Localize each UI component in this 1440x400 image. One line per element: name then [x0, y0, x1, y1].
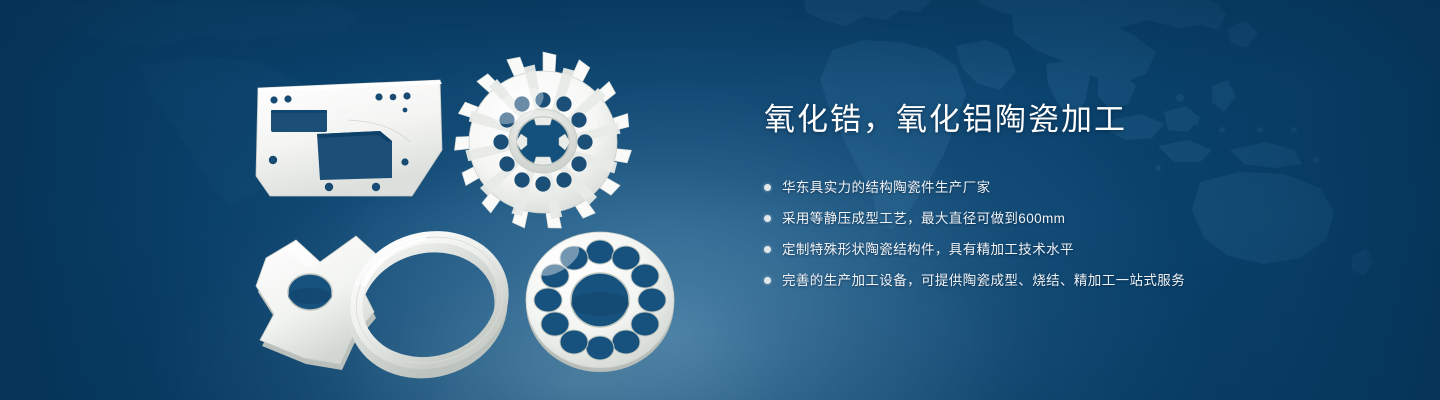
product-banner: 氧化锆，氧化铝陶瓷加工 华东具实力的结构陶瓷件生产厂家 采用等静压成型工艺，最大…	[0, 0, 1440, 400]
feature-text: 定制特殊形状陶瓷结构件，具有精加工技术水平	[782, 243, 1074, 257]
feature-item: 定制特殊形状陶瓷结构件，具有精加工技术水平	[764, 238, 1364, 261]
feature-item: 完善的生产加工设备，可提供陶瓷成型、烧结、精加工一站式服务	[764, 269, 1364, 292]
feature-item: 采用等静压成型工艺，最大直径可做到600mm	[764, 207, 1364, 230]
banner-copy: 氧化锆，氧化铝陶瓷加工 华东具实力的结构陶瓷件生产厂家 采用等静压成型工艺，最大…	[764, 104, 1364, 300]
product-ceramic-plate	[252, 72, 448, 200]
product-ceramic-impeller	[448, 46, 638, 236]
product-ceramic-disc	[518, 224, 682, 376]
product-image-group	[0, 0, 720, 400]
bullet-dot-icon	[764, 215, 771, 222]
banner-title: 氧化锆，氧化铝陶瓷加工	[764, 104, 1364, 135]
feature-text: 采用等静压成型工艺，最大直径可做到600mm	[782, 212, 1065, 226]
product-ceramic-ring	[340, 222, 520, 382]
bullet-dot-icon	[764, 246, 771, 253]
feature-list: 华东具实力的结构陶瓷件生产厂家 采用等静压成型工艺，最大直径可做到600mm 定…	[764, 176, 1364, 292]
bullet-dot-icon	[764, 184, 771, 191]
feature-text: 完善的生产加工设备，可提供陶瓷成型、烧结、精加工一站式服务	[782, 274, 1185, 288]
feature-text: 华东具实力的结构陶瓷件生产厂家	[782, 181, 991, 195]
feature-item: 华东具实力的结构陶瓷件生产厂家	[764, 176, 1364, 199]
bullet-dot-icon	[764, 277, 771, 284]
